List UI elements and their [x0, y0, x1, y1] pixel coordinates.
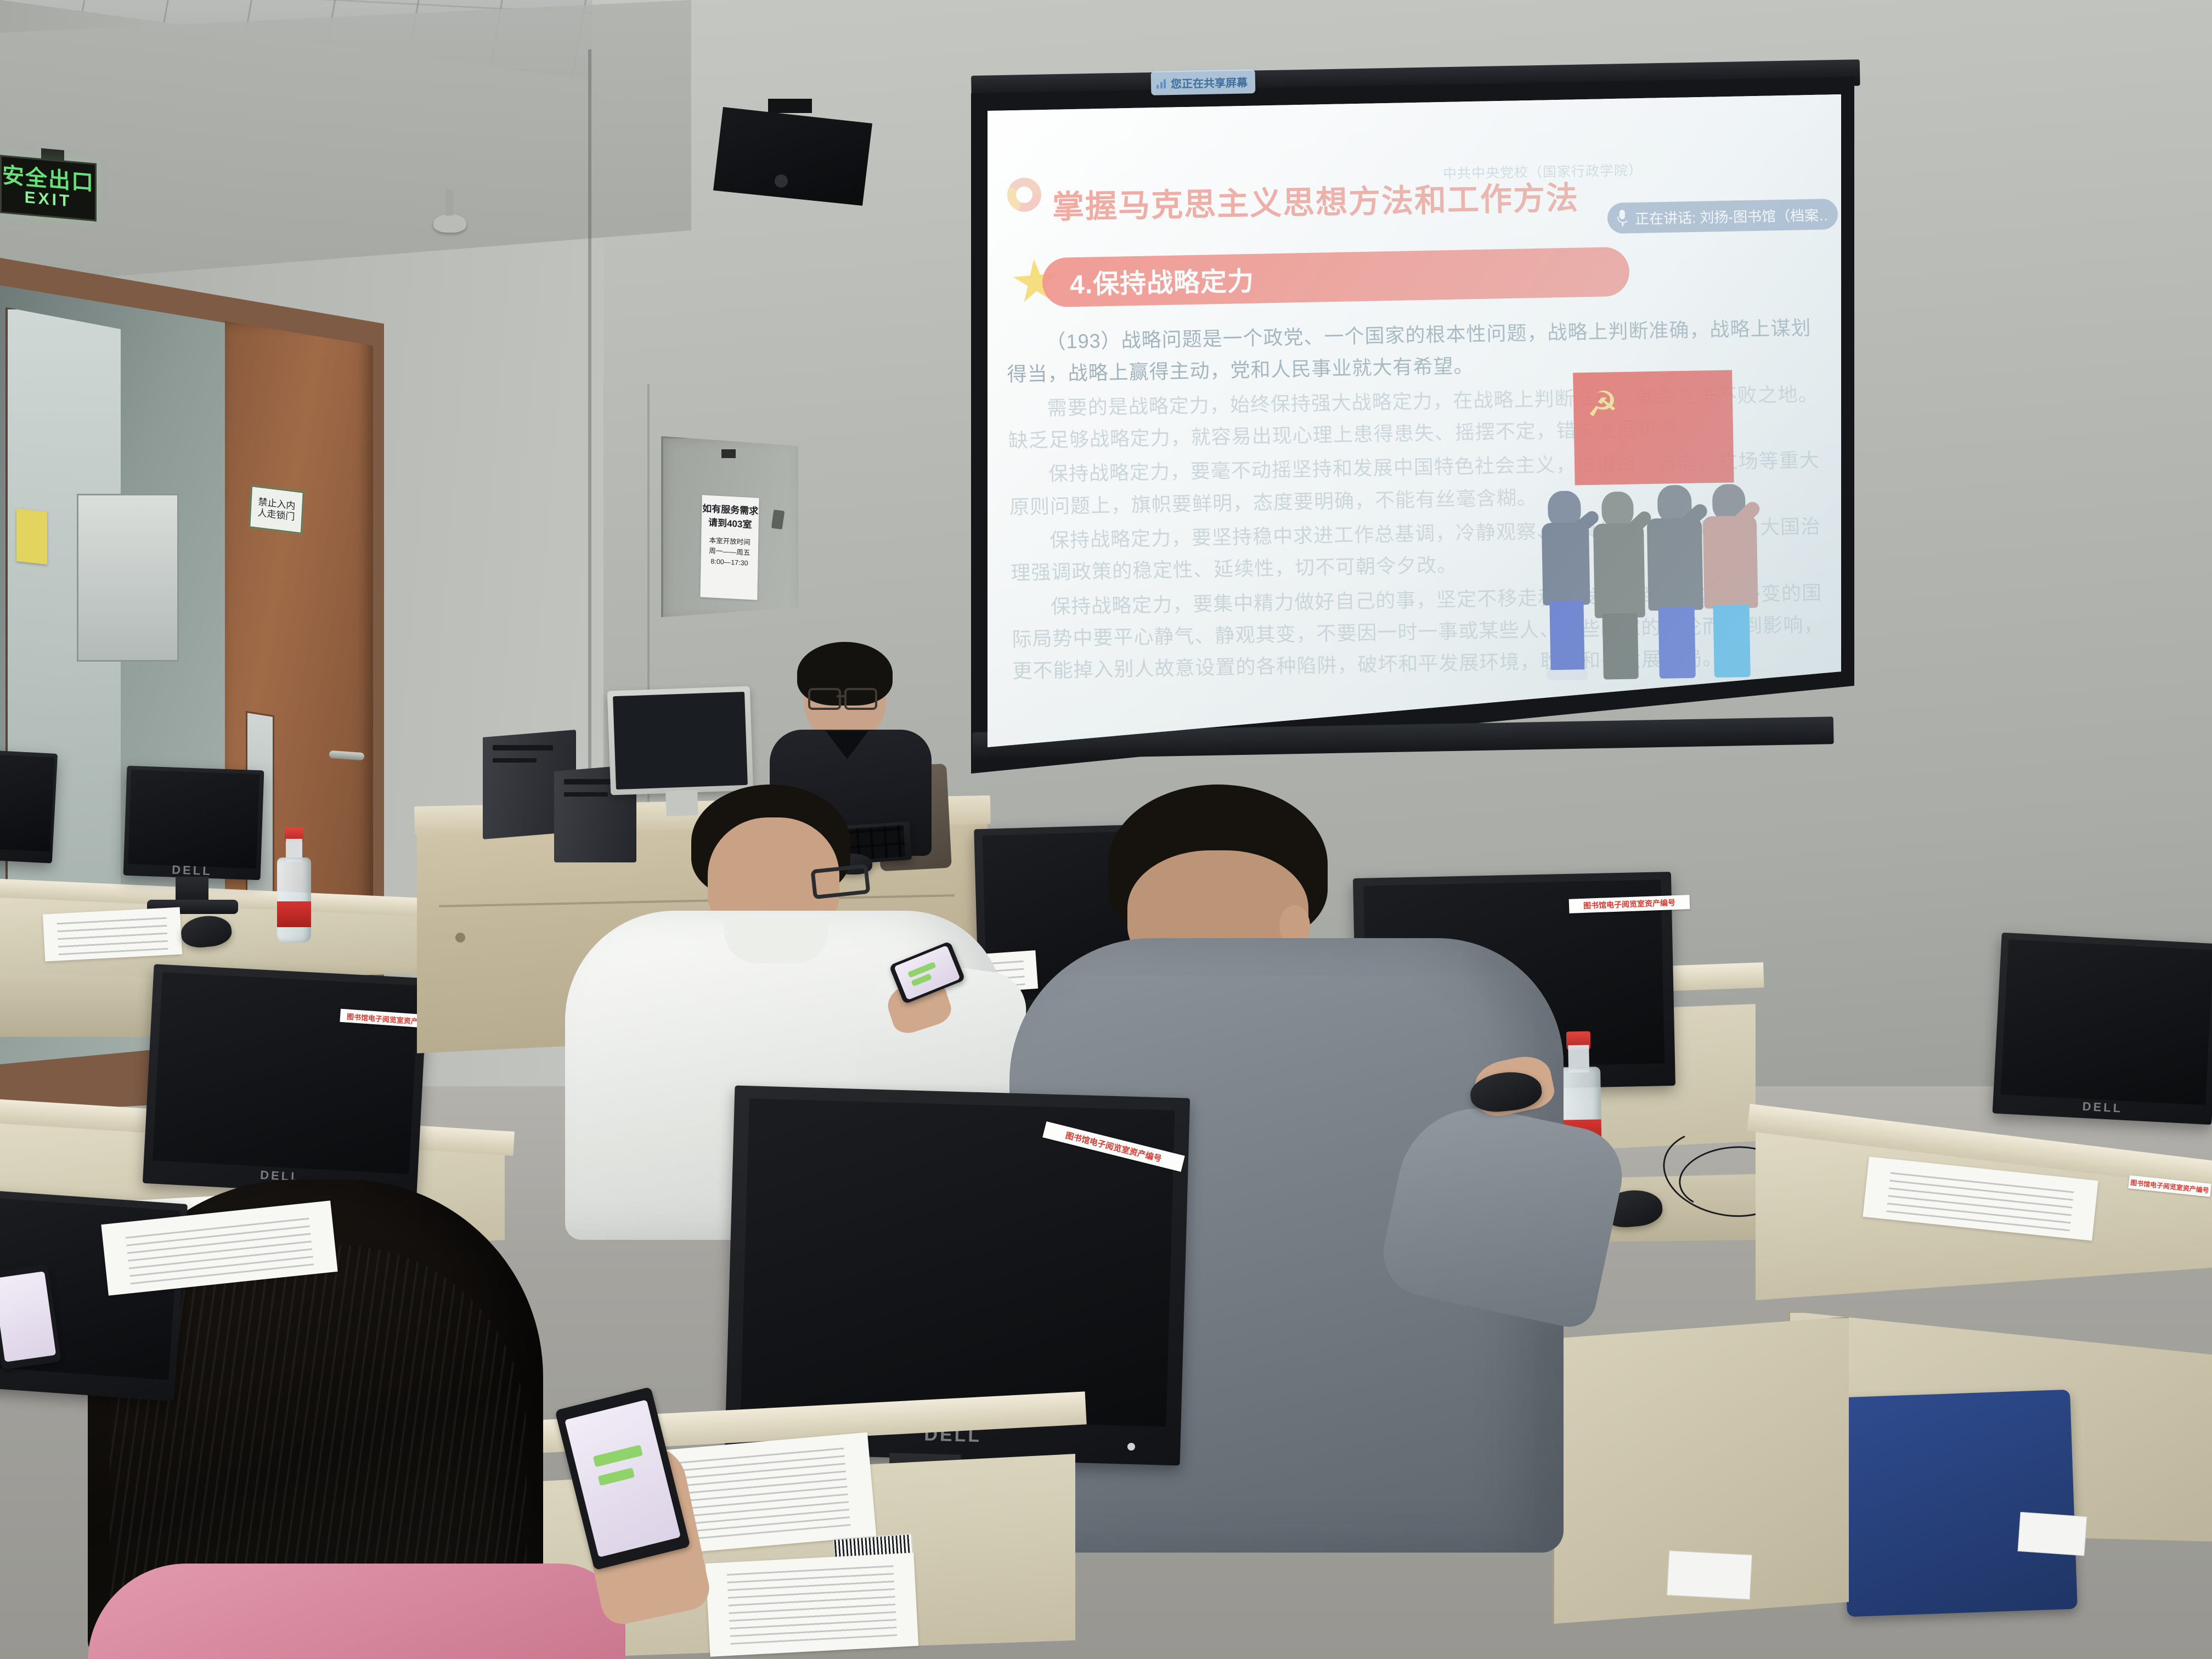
wall-speaker — [713, 107, 872, 206]
paper-foreground-2-lines — [727, 1565, 897, 1645]
slide-title-watermark: 中共中央党校（国家行政学院） — [1443, 160, 1643, 183]
paper-foreground-2 — [706, 1553, 918, 1657]
service-notice: 如有服务需求 请到403室 本室开放时间 周一——周五 8:00—17:30 — [700, 495, 759, 600]
screen-share-badge: 您正在共享屏幕 — [1151, 69, 1256, 95]
chat-bubble-fg-2 — [597, 1468, 634, 1486]
microphone-icon — [1617, 210, 1628, 226]
notice-line-2: 请到403室 — [708, 517, 752, 532]
presenter-monitor-screen — [613, 692, 748, 789]
slide-illustration: ☭ — [1533, 369, 1775, 680]
section-banner-label: 4.保持战略定力 — [1069, 259, 1254, 301]
active-speaker-badge: 正在讲话: 刘扬-图书馆（档案… — [1607, 199, 1838, 234]
wall-speaker-screw — [775, 174, 788, 188]
figure-1-body — [1542, 522, 1590, 605]
monitor-right: DELL — [1993, 933, 2212, 1125]
chair-right[interactable] — [1839, 1390, 2078, 1617]
monitor-left-mid-screen — [153, 972, 419, 1174]
figure-4 — [1699, 484, 1766, 678]
monitor-left-mid: DELL — [143, 964, 428, 1198]
figure-1-shoes — [1547, 669, 1588, 680]
smoke-detector-stem — [445, 189, 453, 216]
monitor-left-far-screen — [0, 753, 55, 851]
phone-on-desk-left-screen — [0, 1271, 57, 1362]
attendee-foreground-shoulder — [88, 1564, 625, 1659]
active-speaker-label: 正在讲话: 刘扬-图书馆（档案… — [1635, 204, 1829, 228]
exit-sign: 安全出口 EXIT — [0, 155, 97, 221]
notice-line-1: 如有服务需求 — [702, 503, 758, 518]
figure-2-body — [1593, 523, 1645, 618]
figure-4-body — [1703, 516, 1758, 609]
wall-speaker-bracket — [768, 99, 812, 113]
paper-lower-left-lines — [125, 1211, 314, 1284]
monitor-left-far — [0, 749, 58, 864]
monitor-left-rear: DELL — [123, 766, 264, 881]
sticker-center-cabinet — [1667, 1550, 1752, 1600]
chat-bubble — [907, 962, 936, 978]
figure-2-legs — [1602, 613, 1639, 680]
panel-hazard-tag-icon — [721, 449, 736, 458]
exit-sign-english: EXIT — [25, 188, 72, 211]
figure-1 — [1536, 490, 1597, 681]
pc-tower-1-vent — [493, 758, 537, 763]
attendee-white-glasses — [810, 864, 870, 900]
chat-bubble-fg-1 — [592, 1445, 643, 1468]
paper-left-rear-lines — [57, 913, 168, 955]
presenter-monitor — [607, 686, 753, 795]
front-desk-knob[interactable] — [455, 933, 465, 943]
dell-logo: DELL — [172, 863, 212, 879]
dell-logo-right: DELL — [2082, 1099, 2123, 1115]
sticker-right-cabinet — [2018, 1512, 2087, 1556]
notice-line-5: 8:00—17:30 — [710, 557, 748, 568]
hammer-and-sickle-icon: ☭ — [1587, 386, 1623, 421]
smoke-detector-icon — [433, 214, 466, 233]
notice-line-4: 周一——周五 — [709, 546, 750, 558]
figure-2 — [1588, 481, 1651, 680]
figure-4-legs — [1713, 605, 1751, 678]
pc-tower-1-drive-slot — [493, 745, 553, 751]
monitor-foreground-power-led — [1127, 1443, 1135, 1451]
figure-3-legs — [1658, 607, 1696, 679]
attendee-white-collar — [724, 914, 828, 963]
water-bottle-left[interactable] — [277, 827, 311, 943]
classroom-scene: 安全出口 EXIT 禁止入内 人走锁门 如有服务需求 请到403室 本室开放时间… — [0, 0, 2212, 1659]
paper-right-lines — [1887, 1166, 2075, 1231]
notice-line-3: 本室开放时间 — [709, 536, 751, 548]
figure-2-head — [1601, 492, 1634, 527]
bottle-body — [277, 857, 311, 943]
figure-1-legs — [1549, 600, 1584, 673]
door-warning-sign: 禁止入内 人走锁门 — [249, 485, 304, 534]
slide-logo-icon — [1007, 178, 1041, 212]
monitor-left-rear-screen — [128, 770, 259, 868]
monitor-right-screen — [2000, 939, 2212, 1105]
bottle-label — [277, 901, 311, 927]
corridor-equipment-box — [77, 494, 179, 662]
signal-bars-icon — [1156, 78, 1166, 88]
presenter-glasses — [808, 688, 878, 706]
yellow-notice-sticker — [16, 509, 47, 565]
paper-left-rear — [43, 907, 182, 962]
figure-3-body — [1647, 517, 1703, 611]
screen-share-badge-label: 您正在共享屏幕 — [1171, 74, 1248, 91]
slide: 掌握马克思主义思想方法和工作方法 中共中央党校（国家行政学院） 4.保持战略定力… — [988, 94, 1841, 747]
projection-screen-surface[interactable]: 掌握马克思主义思想方法和工作方法 中共中央党校（国家行政学院） 4.保持战略定力… — [988, 94, 1841, 747]
